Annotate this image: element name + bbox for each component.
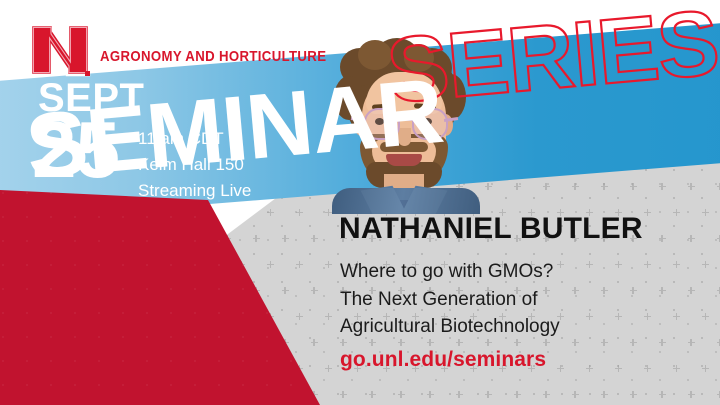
unit-wordmark: AGRONOMY AND HORTICULTURE — [100, 48, 326, 65]
event-streaming: Streaming Live — [138, 178, 251, 204]
speaker-name: NATHANIEL BUTLER — [339, 212, 643, 246]
event-location: Keim Hall 150 — [138, 152, 251, 178]
event-details: 11 am CDT Keim Hall 150 Streaming Live — [138, 126, 251, 203]
nebraska-n-logo-icon — [28, 22, 92, 84]
talk-title-line-2: The Next Generation of — [340, 286, 560, 314]
shirt-shading — [332, 188, 480, 214]
talk-title-line-1: Where to go with GMOs? — [340, 258, 560, 286]
seminar-poster: SERIES — [0, 0, 720, 405]
event-time: 11 am CDT — [138, 126, 251, 152]
seminars-link[interactable]: go.unl.edu/seminars — [340, 348, 546, 372]
event-day: 25 — [32, 110, 119, 190]
talk-title-line-3: Agricultural Biotechnology — [340, 313, 560, 341]
talk-title: Where to go with GMOs? The Next Generati… — [340, 258, 560, 341]
